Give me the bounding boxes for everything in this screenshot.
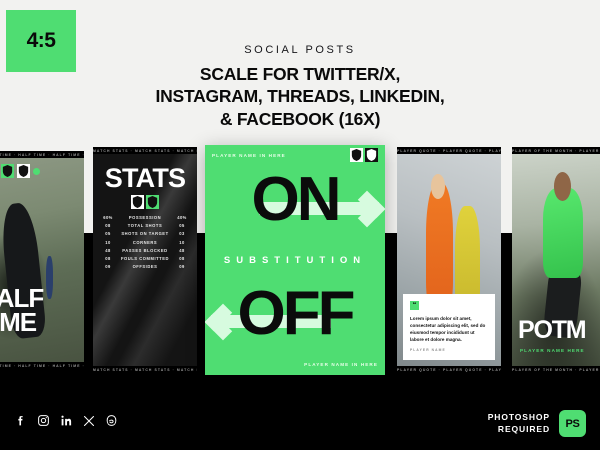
crest-home-icon (1, 164, 14, 178)
stats-home-value: 05 (100, 231, 116, 236)
half-time-title-line-2: TIME (0, 311, 43, 335)
stats-home-value: 60% (100, 215, 116, 220)
quote-panel: “ Lorem ipsum dolor sit amet, consectetu… (403, 294, 495, 360)
linkedin-icon[interactable] (60, 414, 73, 427)
stats-title: STATS (93, 163, 197, 194)
half-time-bottom-marquee: HALF TIME · HALF TIME · HALF TIME · HALF… (0, 362, 84, 369)
stats-table: 60%POSSESSION40%08TOTAL SHOTS0505SHOTS O… (100, 215, 190, 269)
requirement-line-2: REQUIRED (488, 424, 550, 435)
quote-bottom-marquee: PLAYER QUOTE · PLAYER QUOTE · PLAYER QUO… (397, 366, 501, 373)
substitution-header: PLAYER NAME IN HERE (205, 145, 385, 165)
requirement-text: PHOTOSHOP REQUIRED (488, 412, 550, 434)
poster-stage: 4:5 SOCIAL POSTS SCALE FOR TWITTER/X, IN… (0, 0, 600, 450)
requirement-line-1: PHOTOSHOP (488, 412, 550, 423)
stats-away-value: 09 (174, 264, 190, 269)
stats-row: 10CORNERS10 (100, 240, 190, 245)
header-kicker: SOCIAL POSTS (0, 44, 600, 56)
substitution-subtitle: SUBSTITUTION (205, 255, 385, 266)
footer: PHOTOSHOP REQUIRED PS (0, 398, 600, 450)
stats-bottom-marquee: MATCH STATS · MATCH STATS · MATCH STATS … (93, 366, 197, 373)
quote-attribution: PLAYER NAME (410, 348, 488, 352)
card-player-quote[interactable]: PLAYER QUOTE · PLAYER QUOTE · PLAYER QUO… (397, 147, 501, 373)
half-time-title: HALF TIME (0, 287, 43, 335)
potm-player-name: PLAYER NAME HERE (520, 348, 585, 353)
stats-away-value: 40% (174, 215, 190, 220)
quote-top-marquee: PLAYER QUOTE · PLAYER QUOTE · PLAYER QUO… (397, 147, 501, 154)
stats-home-value: 09 (100, 264, 116, 269)
stats-away-value: 03 (174, 231, 190, 236)
stats-home-value: 08 (100, 256, 116, 261)
substitution-crests (350, 148, 378, 162)
stats-row: 08TOTAL SHOTS05 (100, 223, 190, 228)
substitution-word-on: ON (205, 169, 385, 231)
page-title: SCALE FOR TWITTER/X, INSTAGRAM, THREADS,… (0, 63, 600, 130)
crest-home-icon (350, 148, 363, 162)
stats-crests (93, 195, 197, 209)
stats-label: SHOTS ON TARGET (116, 231, 174, 236)
stats-row: 48PASSES BLOCKED48 (100, 248, 190, 253)
substitution-player-top: PLAYER NAME IN HERE (212, 153, 286, 158)
half-time-top-marquee: HALF TIME · HALF TIME · HALF TIME · HALF… (0, 151, 84, 158)
potm-title: POTM (518, 318, 585, 343)
stats-away-value: 48 (174, 248, 190, 253)
half-time-crests (0, 164, 40, 178)
stats-label: PASSES BLOCKED (116, 248, 174, 253)
card-half-time[interactable]: HALF TIME · HALF TIME · HALF TIME · HALF… (0, 151, 84, 369)
crest-away-icon (146, 195, 159, 209)
card-substitution[interactable]: PLAYER NAME IN HERE ON SUBSTITUTION OFF … (205, 145, 385, 375)
stats-row: 05SHOTS ON TARGET03 (100, 231, 190, 236)
stats-label: POSSESSION (116, 215, 174, 220)
stats-home-value: 08 (100, 223, 116, 228)
crest-away-icon (17, 164, 30, 178)
headline-line-1: SCALE FOR TWITTER/X, (0, 63, 600, 85)
card-stats[interactable]: MATCH STATS · MATCH STATS · MATCH STATS … (93, 147, 197, 373)
accent-dot-icon-2 (33, 168, 40, 175)
potm-top-marquee: PLAYER OF THE MONTH · PLAYER OF THE MONT… (512, 147, 600, 154)
instagram-icon[interactable] (37, 414, 50, 427)
template-card-rail: HALF TIME · HALF TIME · HALF TIME · HALF… (0, 145, 600, 375)
stats-row: 08FOULS COMMITTED08 (100, 256, 190, 261)
substitution-word-off: OFF (205, 283, 385, 345)
crest-home-icon (131, 195, 144, 209)
headline-line-2: INSTAGRAM, THREADS, LINKEDIN, (0, 85, 600, 107)
stats-away-value: 05 (174, 223, 190, 228)
stats-row: 60%POSSESSION40% (100, 215, 190, 220)
quote-text: Lorem ipsum dolor sit amet, consectetur … (410, 315, 488, 343)
stats-label: FOULS COMMITTED (116, 256, 174, 261)
stats-home-value: 10 (100, 240, 116, 245)
stats-away-value: 08 (174, 256, 190, 261)
stats-home-value: 48 (100, 248, 116, 253)
facebook-icon[interactable] (14, 414, 27, 427)
crest-away-icon (365, 148, 378, 162)
x-twitter-icon[interactable] (83, 415, 95, 427)
stats-away-value: 10 (174, 240, 190, 245)
headline-line-3: & FACEBOOK (16X) (0, 108, 600, 130)
header: SOCIAL POSTS SCALE FOR TWITTER/X, INSTAG… (0, 44, 600, 130)
social-icon-row (14, 414, 118, 427)
stats-label: OFFSIDES (116, 264, 174, 269)
photoshop-app-icon: PS (559, 410, 586, 437)
stats-top-marquee: MATCH STATS · MATCH STATS · MATCH STATS … (93, 147, 197, 154)
substitution-player-bottom: PLAYER NAME IN HERE (304, 362, 378, 367)
requirement-badge: PHOTOSHOP REQUIRED PS (488, 410, 586, 437)
potm-bottom-marquee: PLAYER OF THE MONTH · PLAYER OF THE MONT… (512, 366, 600, 373)
stats-row: 09OFFSIDES09 (100, 264, 190, 269)
stats-label: TOTAL SHOTS (116, 223, 174, 228)
quote-mark-icon: “ (410, 301, 419, 310)
stats-label: CORNERS (116, 240, 174, 245)
card-player-of-the-month[interactable]: PLAYER OF THE MONTH · PLAYER OF THE MONT… (512, 147, 600, 373)
threads-icon[interactable] (105, 414, 118, 427)
